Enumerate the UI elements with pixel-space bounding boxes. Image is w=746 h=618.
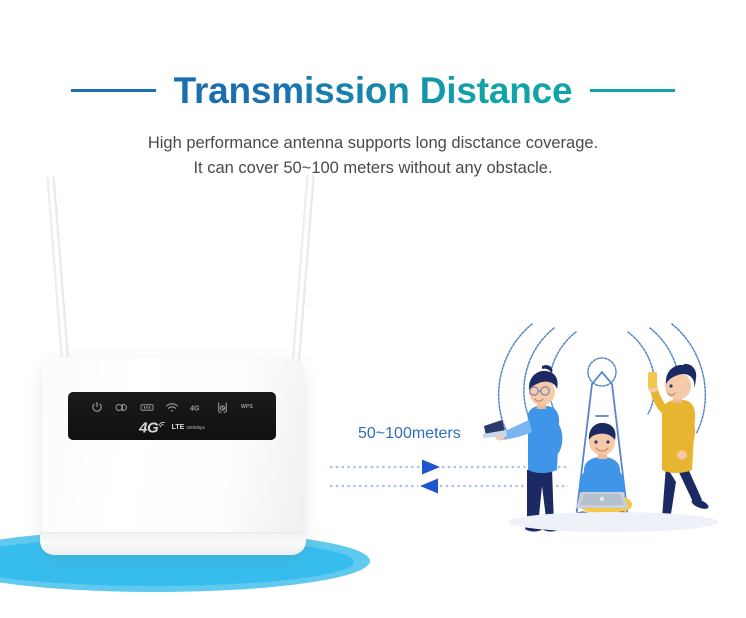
arrow-right-icon: [422, 460, 440, 475]
child-with-laptop: [574, 423, 632, 521]
router-illustration: 4G WPS 4G: [0, 165, 380, 585]
coverage-scene: [480, 290, 746, 560]
router-body: 4G WPS 4G: [42, 357, 304, 555]
page-title: Transmission Distance: [174, 72, 573, 109]
brand-speed-text: 300Mbps: [186, 425, 205, 430]
led-indicator-row: 4G WPS: [68, 398, 276, 416]
title-row: Transmission Distance: [0, 62, 746, 118]
person-with-phone: [648, 364, 710, 525]
4g-signal-icon: 4G: [190, 400, 204, 414]
wifi-icon: [165, 400, 179, 414]
brand-wifi-arc-icon: [156, 421, 168, 430]
phone-ring-icon: [215, 400, 229, 414]
power-icon: [90, 400, 104, 414]
title-rule-right: [590, 89, 675, 92]
router-brand-mark: 4G LTE300Mbps: [68, 419, 276, 437]
brand-lte-text: LTE: [172, 424, 185, 431]
svg-text:4G: 4G: [190, 405, 200, 412]
wps-icon: WPS: [240, 400, 254, 414]
promo-banner: Transmission Distance High performance a…: [0, 0, 746, 618]
antenna-right: [291, 173, 315, 373]
sim-card-icon: [140, 400, 154, 414]
ground-shadow: [508, 512, 718, 532]
antenna-left: [46, 175, 70, 373]
arrow-left-icon: [420, 479, 438, 494]
distance-label: 50~100meters: [358, 425, 461, 443]
subtitle-line-1: High performance antenna supports long d…: [0, 131, 746, 156]
person-with-laptop: [483, 365, 562, 532]
led-panel: 4G WPS 4G: [68, 392, 276, 440]
title-rule-left: [71, 89, 156, 92]
dc-power-icon: [115, 400, 129, 414]
